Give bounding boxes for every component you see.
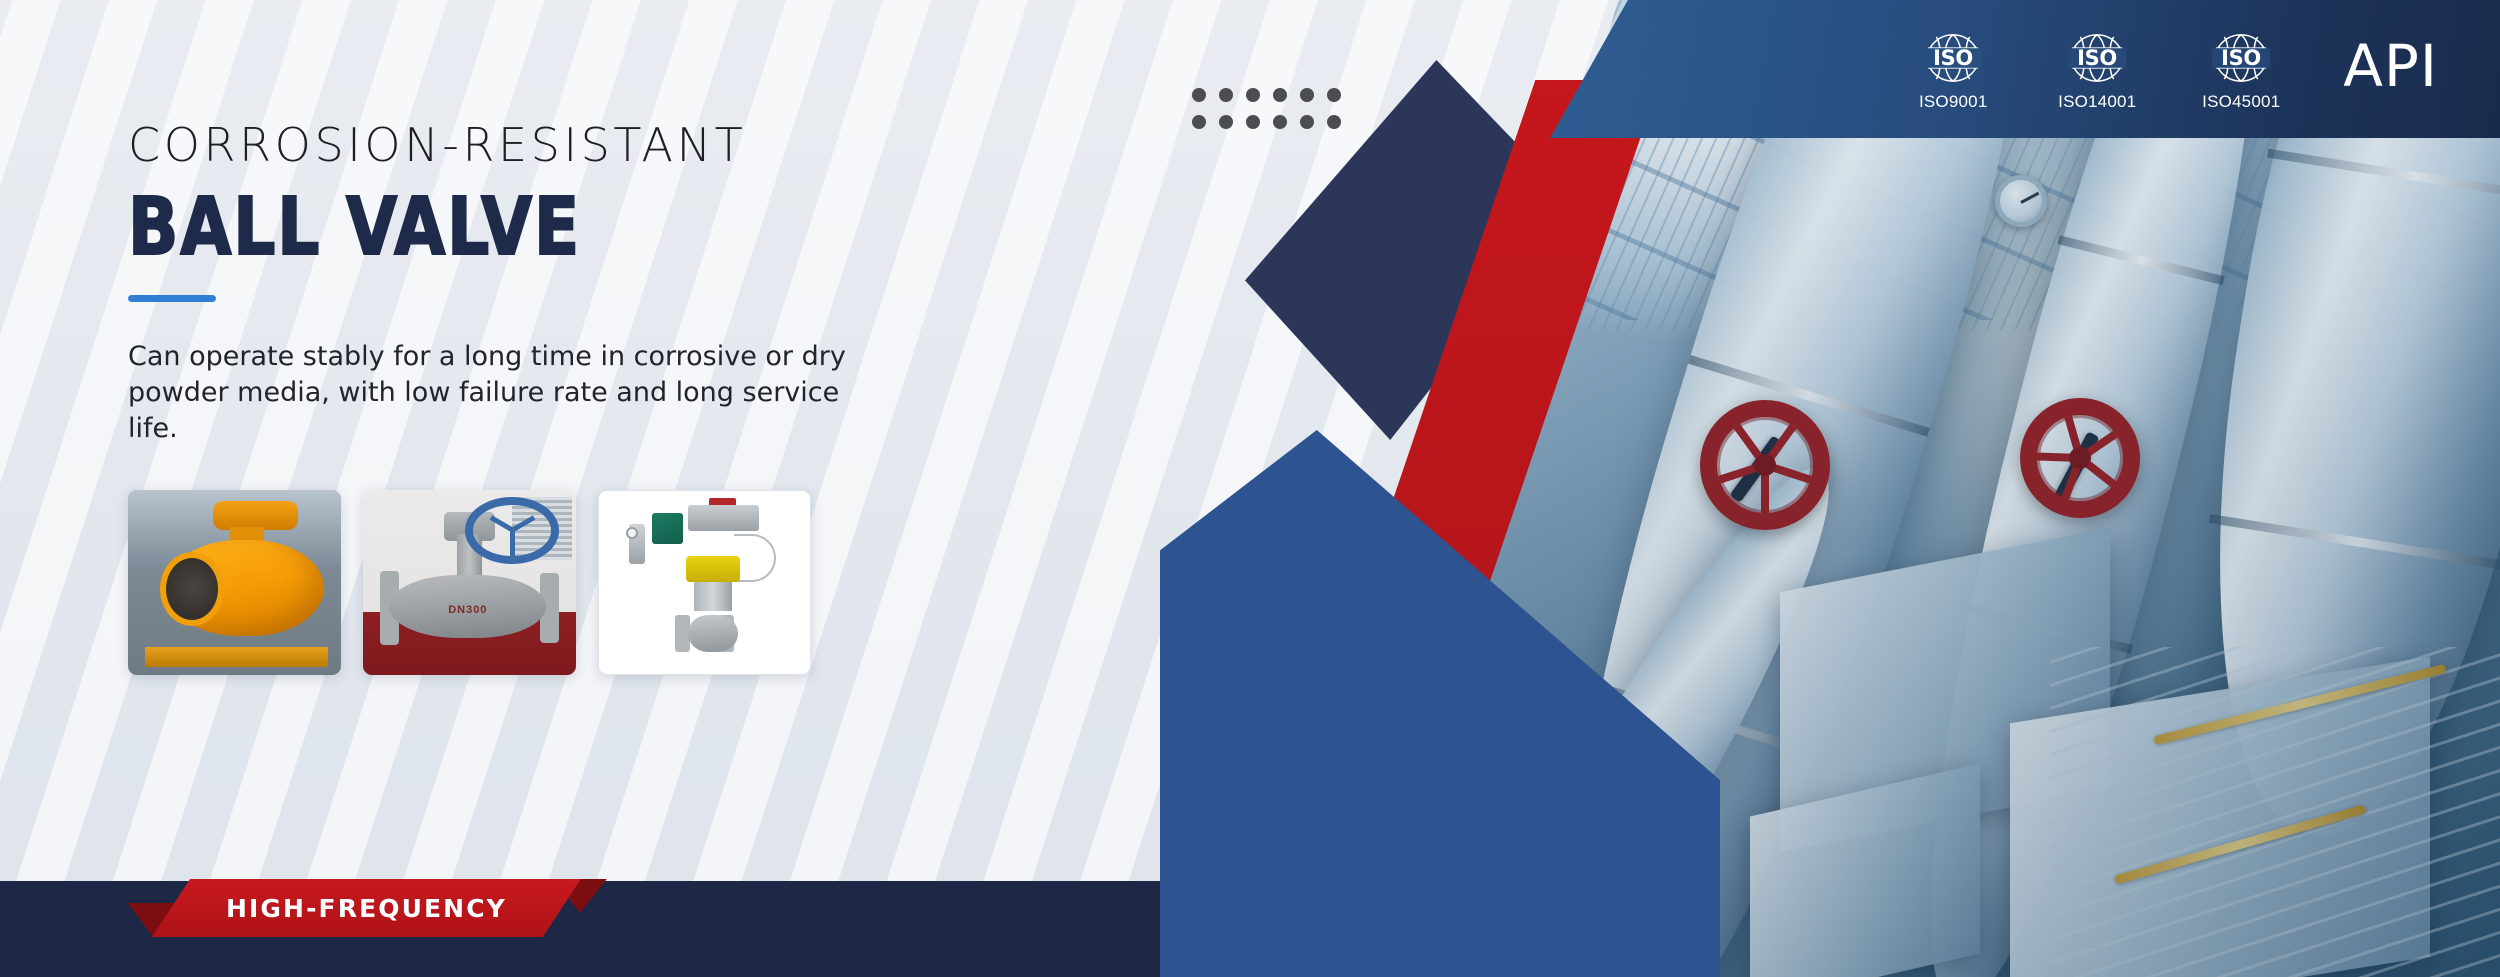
svg-text:ISO: ISO: [1933, 46, 1973, 70]
dot-grid-decoration: [1192, 88, 1341, 129]
photo-tint-overlay: [1450, 0, 2500, 977]
iso-globe-icon: ISO: [2062, 27, 2132, 89]
product-thumbnail-pneumatic-valve[interactable]: [598, 490, 811, 675]
iso-globe-icon: ISO: [1918, 27, 1988, 89]
product-thumbnail-handwheel-valve[interactable]: DN300: [363, 490, 576, 675]
valve-size-marking: DN300: [448, 604, 487, 616]
api-certification-label: API: [2343, 32, 2438, 100]
certification-label: ISO45001: [2202, 92, 2280, 112]
page-title: BALL VALVE: [128, 190, 1123, 265]
certification-iso14001: ISO ISO14001: [2043, 27, 2151, 112]
accent-bar: [128, 295, 216, 302]
certification-iso45001: ISO ISO45001: [2187, 27, 2295, 112]
ribbon-body: HIGH-FREQUENCY: [152, 879, 581, 937]
product-thumbnail-orange-valve[interactable]: [128, 490, 341, 675]
highlight-ribbon: HIGH-FREQUENCY: [152, 879, 581, 937]
certification-label: ISO9001: [1919, 92, 1988, 112]
product-thumbnail-list: DN300: [128, 490, 1198, 675]
svg-text:ISO: ISO: [2077, 46, 2117, 70]
ribbon-label: HIGH-FREQUENCY: [226, 894, 507, 923]
product-banner: ISO ISO9001 ISO ISO14001: [0, 0, 2500, 977]
hero-photo-image: [1450, 0, 2500, 977]
banner-content: CORROSION-RESISTANT BALL VALVE Can opera…: [128, 118, 1198, 675]
certification-header-band: ISO ISO9001 ISO ISO14001: [1550, 0, 2500, 138]
lead-paragraph: Can operate stably for a long time in co…: [128, 339, 878, 448]
certification-label: ISO14001: [2058, 92, 2136, 112]
certification-iso9001: ISO ISO9001: [1899, 27, 2007, 112]
hero-photo: [1450, 0, 2500, 977]
svg-text:ISO: ISO: [2221, 46, 2261, 70]
iso-globe-icon: ISO: [2206, 27, 2276, 89]
eyebrow-text: CORROSION-RESISTANT: [128, 118, 1198, 172]
